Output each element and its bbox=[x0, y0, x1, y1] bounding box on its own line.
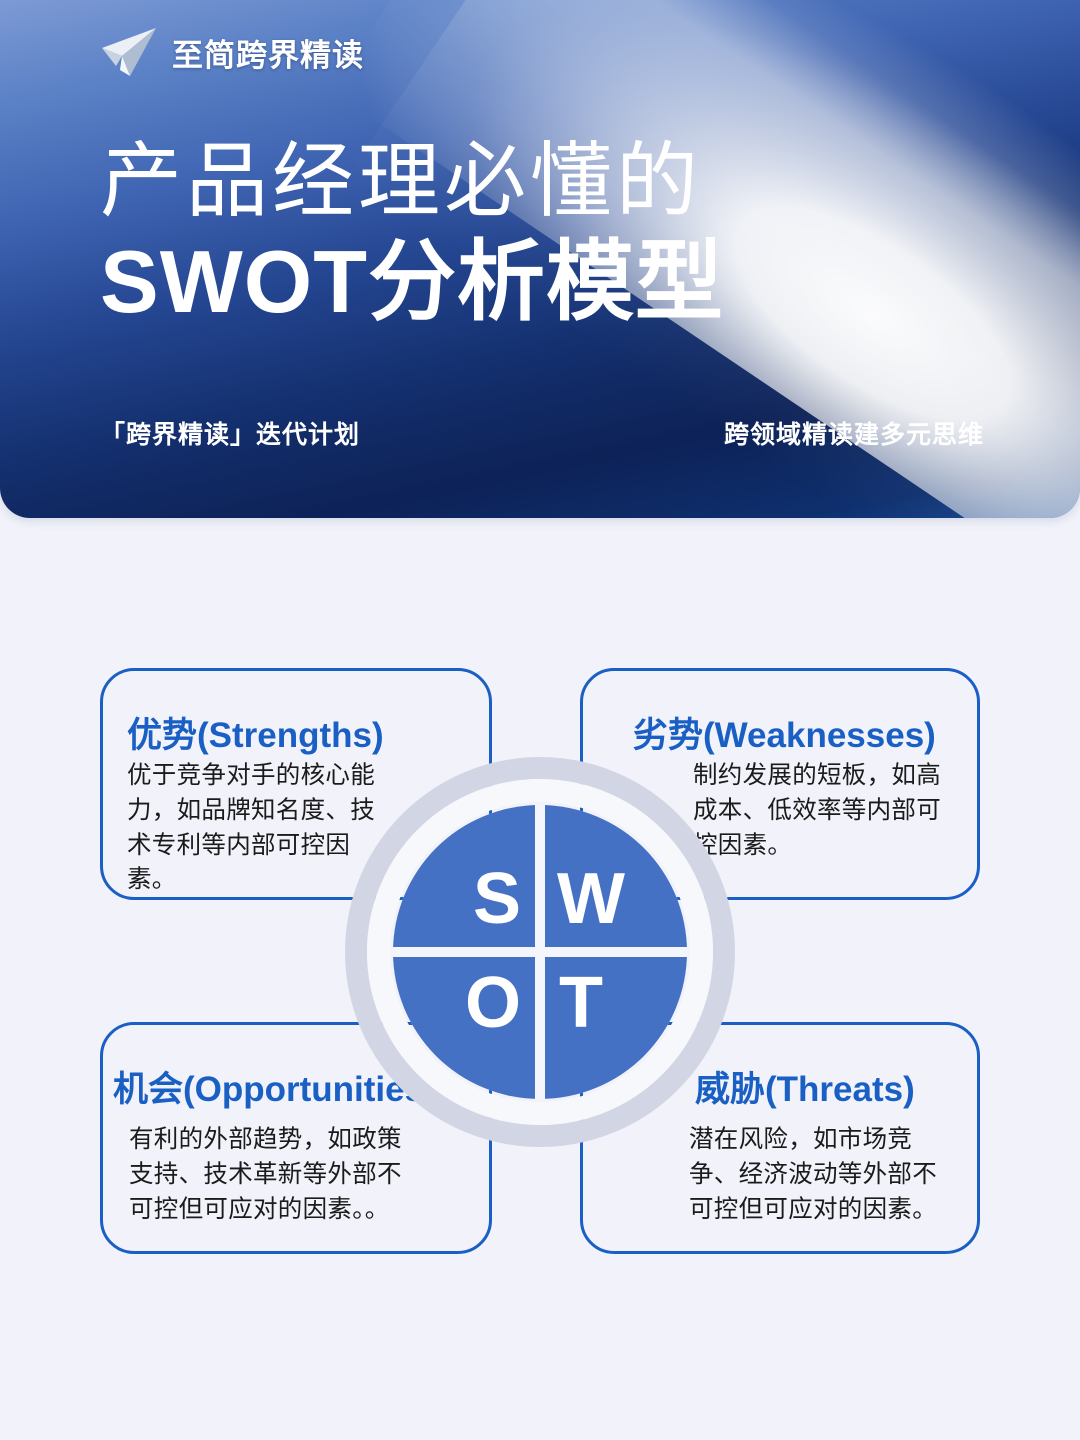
swot-card-title: 威胁(Threats) bbox=[695, 1061, 915, 1112]
swot-card-title: 机会(Opportunities bbox=[113, 1061, 424, 1112]
swot-card-threats[interactable]: 威胁(Threats) 潜在风险，如市场竞争、经济波动等外部不可控但可应对的因素… bbox=[580, 1022, 980, 1254]
paper-plane-icon bbox=[100, 26, 158, 78]
title-line-1: 产品经理必懂的 bbox=[100, 138, 724, 227]
swot-card-body: 有利的外部趋势，如政策支持、技术革新等外部不可控但可应对的因素。。 bbox=[129, 1123, 419, 1227]
brand-name: 至简跨界精读 bbox=[172, 30, 364, 75]
subtitle-right: 跨领域精读建多元思维 bbox=[724, 415, 984, 451]
brand-logo: 至简跨界精读 bbox=[100, 26, 364, 78]
swot-card-opportunities[interactable]: 机会(Opportunities 有利的外部趋势，如政策支持、技术革新等外部不可… bbox=[100, 1022, 492, 1254]
swot-card-body: 制约发展的短板，如高成本、低效率等内部可控因素。 bbox=[693, 759, 943, 863]
swot-card-body: 潜在风险，如市场竞争、经济波动等外部不可控但可应对的因素。 bbox=[689, 1123, 961, 1227]
swot-card-strengths[interactable]: 优势(Strengths) 优于竞争对手的核心能力，如品牌知名度、技术专利等内部… bbox=[100, 668, 492, 900]
title-line-2: SWOT分析模型 bbox=[100, 233, 724, 332]
subtitle-left: 「跨界精读」迭代计划 bbox=[100, 415, 360, 451]
page-title: 产品经理必懂的 SWOT分析模型 bbox=[100, 138, 724, 331]
swot-card-body: 优于竞争对手的核心能力，如品牌知名度、技术专利等内部可控因素。 bbox=[127, 759, 385, 898]
swot-card-title: 优势(Strengths) bbox=[127, 707, 384, 758]
subtitle-row: 「跨界精读」迭代计划 跨领域精读建多元思维 bbox=[100, 415, 984, 451]
swot-card-title: 劣势(Weaknesses) bbox=[633, 707, 936, 758]
swot-card-weaknesses[interactable]: 劣势(Weaknesses) 制约发展的短板，如高成本、低效率等内部可控因素。 bbox=[580, 668, 980, 900]
